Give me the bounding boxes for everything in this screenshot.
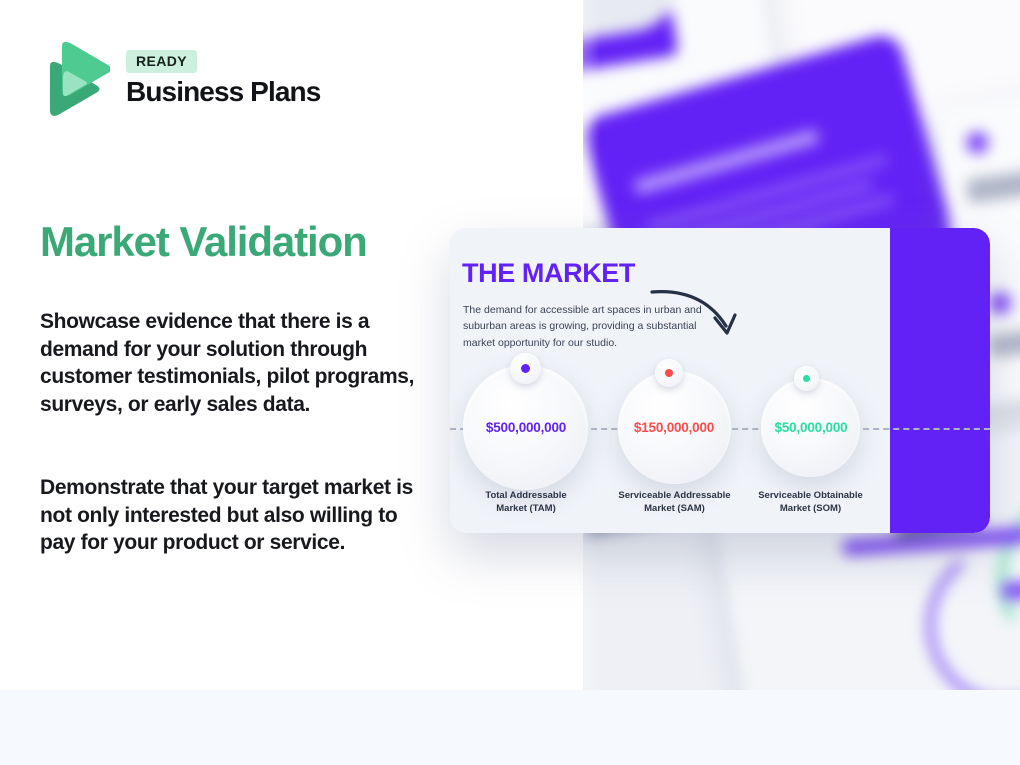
body-paragraph-1: Showcase evidence that there is a demand… [40,308,430,419]
slide-canvas: READY Business Plans Market Validation S… [0,0,1020,765]
metric-value-som: $50,000,000 [735,420,887,435]
brand-logo[interactable]: READY Business Plans [40,38,320,118]
metric-label-som-line2: Market (SOM) [780,503,841,514]
metric-label-som: Serviceable Obtainable Market (SOM) [724,490,897,516]
body-paragraph-2: Demonstrate that your target market is n… [40,474,430,557]
brand-title: Business Plans [126,78,320,106]
market-slide-card[interactable]: THE MARKET The demand for accessible art… [450,228,990,533]
page-title: Market Validation [40,218,367,266]
play-triangle-logo-icon [40,38,110,118]
metric-label-tam-line1: Total Addressable [485,490,566,501]
metric-label-tam-line2: Market (TAM) [496,503,555,514]
metric-label-sam-line2: Market (SAM) [644,503,705,514]
metric-label-tam: Total Addressable Market (TAM) [450,490,602,516]
metric-dot-red [665,369,673,377]
metric-dot-purple [521,364,530,373]
market-metrics-group: $500,000,000 Total Addressable Market (T… [450,228,990,533]
metric-label-som-line1: Serviceable Obtainable [758,490,863,501]
bottom-band [0,690,1020,765]
ready-badge: READY [126,50,197,73]
metric-dot-green [803,375,810,382]
metric-label-sam-line1: Serviceable Addressable [618,490,730,501]
metric-value-sam: $150,000,000 [598,420,750,435]
metric-value-tam: $500,000,000 [450,420,602,435]
